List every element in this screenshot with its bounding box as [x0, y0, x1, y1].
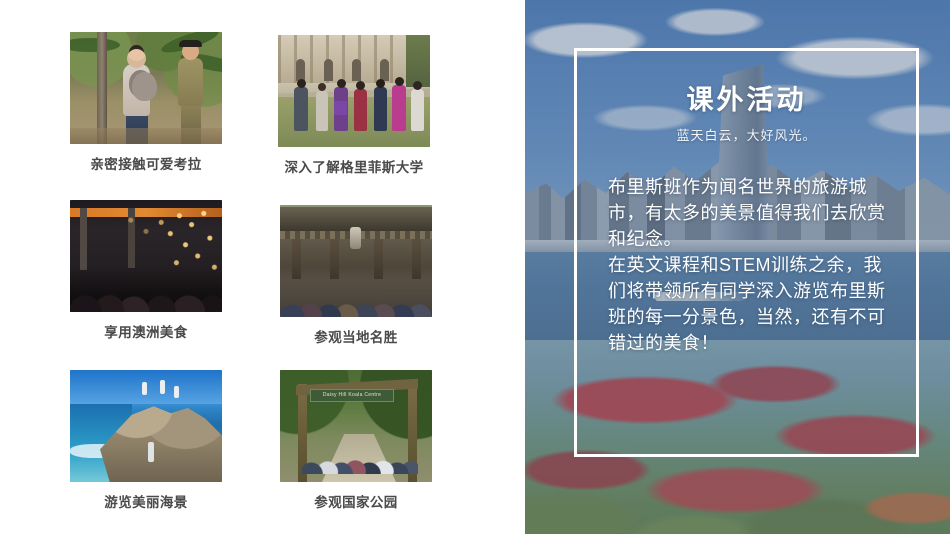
- panel-paragraph-2: 在英文课程和STEM训练之余，我们将带领所有同学深入游览布里斯班的每一分景色，当…: [608, 252, 898, 356]
- gallery-item-park[interactable]: Daisy Hill Koala Centre 参观国家公园: [280, 370, 490, 511]
- gallery-caption: 亲密接触可爱考拉: [70, 153, 222, 173]
- park-sign-text: Daisy Hill Koala Centre: [310, 389, 394, 402]
- panel-paragraph-1: 布里斯班作为闻名世界的旅游城市，有太多的美景值得我们去欣赏和纪念。: [608, 174, 898, 252]
- page-title: 课外活动: [577, 78, 916, 117]
- panel-border-frame: 课外活动 蓝天白云，大好风光。 布里斯班作为闻名世界的旅游城市，有太多的美景值得…: [574, 48, 919, 457]
- gallery-caption: 游览美丽海景: [70, 491, 222, 511]
- gallery-item-dining[interactable]: 享用澳洲美食: [70, 200, 280, 341]
- gallery-item-coast[interactable]: 游览美丽海景: [70, 370, 280, 511]
- gallery-caption: 参观国家公园: [280, 491, 432, 511]
- national-park-photo[interactable]: Daisy Hill Koala Centre: [280, 370, 432, 482]
- gallery-item-university[interactable]: 深入了解格里菲斯大学: [278, 35, 488, 176]
- koala-encounter-photo[interactable]: [70, 32, 222, 144]
- gallery-caption: 深入了解格里菲斯大学: [270, 156, 438, 176]
- coastal-scenery-photo[interactable]: [70, 370, 222, 482]
- slide-canvas: 亲密接触可爱考拉: [0, 0, 950, 534]
- gallery-item-landmark[interactable]: 参观当地名胜: [280, 205, 490, 346]
- gallery-caption: 参观当地名胜: [280, 326, 432, 346]
- photo-gallery: 亲密接触可爱考拉: [0, 0, 525, 534]
- panel-body-text: 布里斯班作为闻名世界的旅游城市，有太多的美景值得我们去欣赏和纪念。 在英文课程和…: [608, 174, 898, 356]
- feature-panel: 课外活动 蓝天白云，大好风光。 布里斯班作为闻名世界的旅游城市，有太多的美景值得…: [525, 0, 950, 534]
- gallery-item-koala[interactable]: 亲密接触可爱考拉: [70, 32, 280, 173]
- gallery-caption: 享用澳洲美食: [70, 321, 222, 341]
- griffith-university-photo[interactable]: [278, 35, 430, 147]
- panel-subtitle: 蓝天白云，大好风光。: [577, 125, 916, 144]
- australian-dining-photo[interactable]: [70, 200, 222, 312]
- local-landmark-photo[interactable]: [280, 205, 432, 317]
